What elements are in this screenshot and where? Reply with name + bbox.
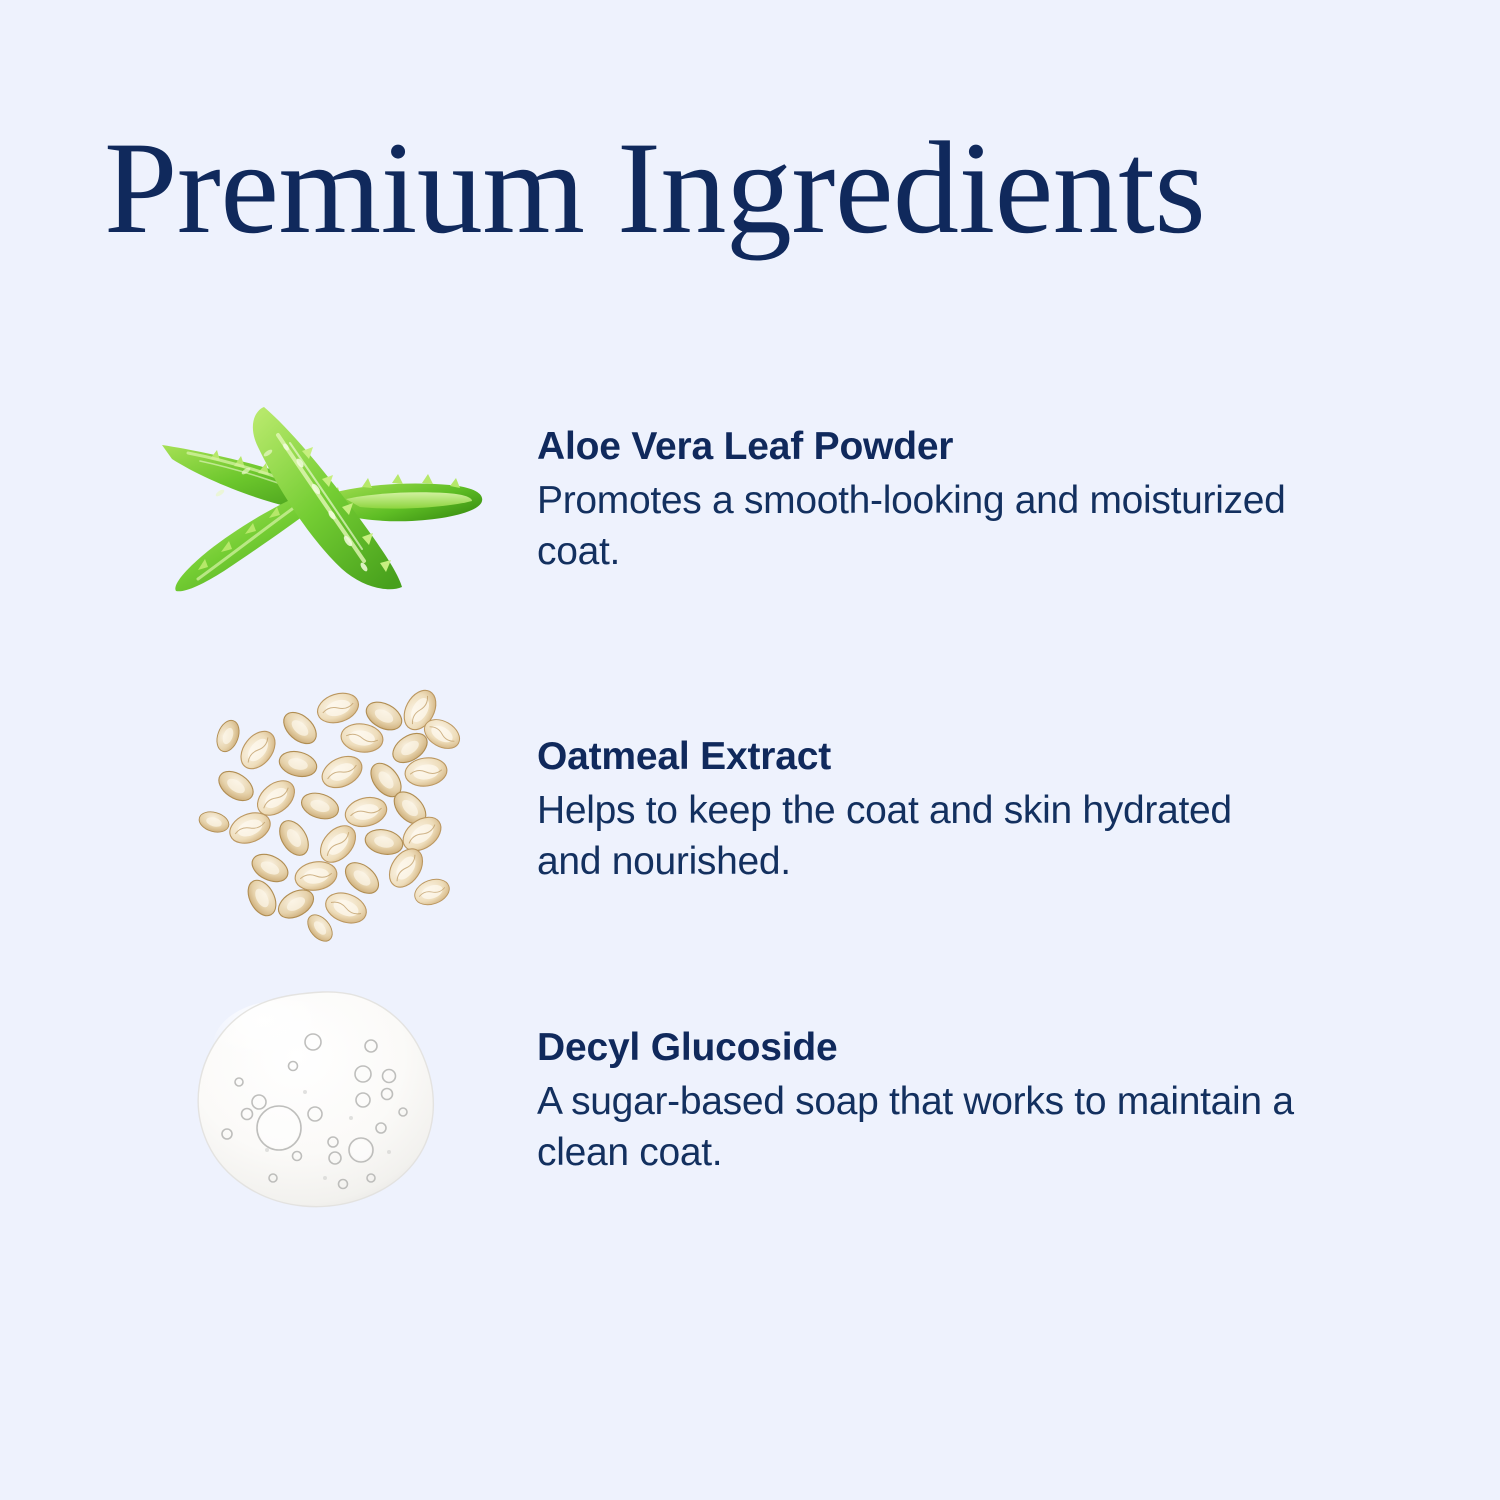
aloe-vera-leaves-image xyxy=(140,398,500,604)
ingredient-row-decyl-glucoside: Decyl Glucoside A sugar-based soap that … xyxy=(140,982,1380,1222)
decyl-glucoside-gel-image xyxy=(140,982,500,1222)
oatmeal-flakes-image xyxy=(140,676,500,946)
ingredient-description: Promotes a smooth-looking and moisturize… xyxy=(537,475,1297,578)
ingredients-infographic: Premium Ingredients xyxy=(0,0,1500,1500)
ingredient-name: Decyl Glucoside xyxy=(537,1025,1380,1072)
ingredient-description: Helps to keep the coat and skin hydrated… xyxy=(537,785,1297,888)
ingredient-text-oatmeal: Oatmeal Extract Helps to keep the coat a… xyxy=(500,734,1380,888)
page-title: Premium Ingredients xyxy=(104,122,1404,254)
ingredient-row-oatmeal: Oatmeal Extract Helps to keep the coat a… xyxy=(140,676,1380,946)
ingredient-text-decyl-glucoside: Decyl Glucoside A sugar-based soap that … xyxy=(500,1025,1380,1179)
ingredient-description: A sugar-based soap that works to maintai… xyxy=(537,1076,1297,1179)
ingredient-name: Oatmeal Extract xyxy=(537,734,1380,781)
ingredient-text-aloe-vera: Aloe Vera Leaf Powder Promotes a smooth-… xyxy=(500,424,1380,578)
ingredient-name: Aloe Vera Leaf Powder xyxy=(537,424,1380,471)
ingredient-row-aloe-vera: Aloe Vera Leaf Powder Promotes a smooth-… xyxy=(140,398,1380,604)
